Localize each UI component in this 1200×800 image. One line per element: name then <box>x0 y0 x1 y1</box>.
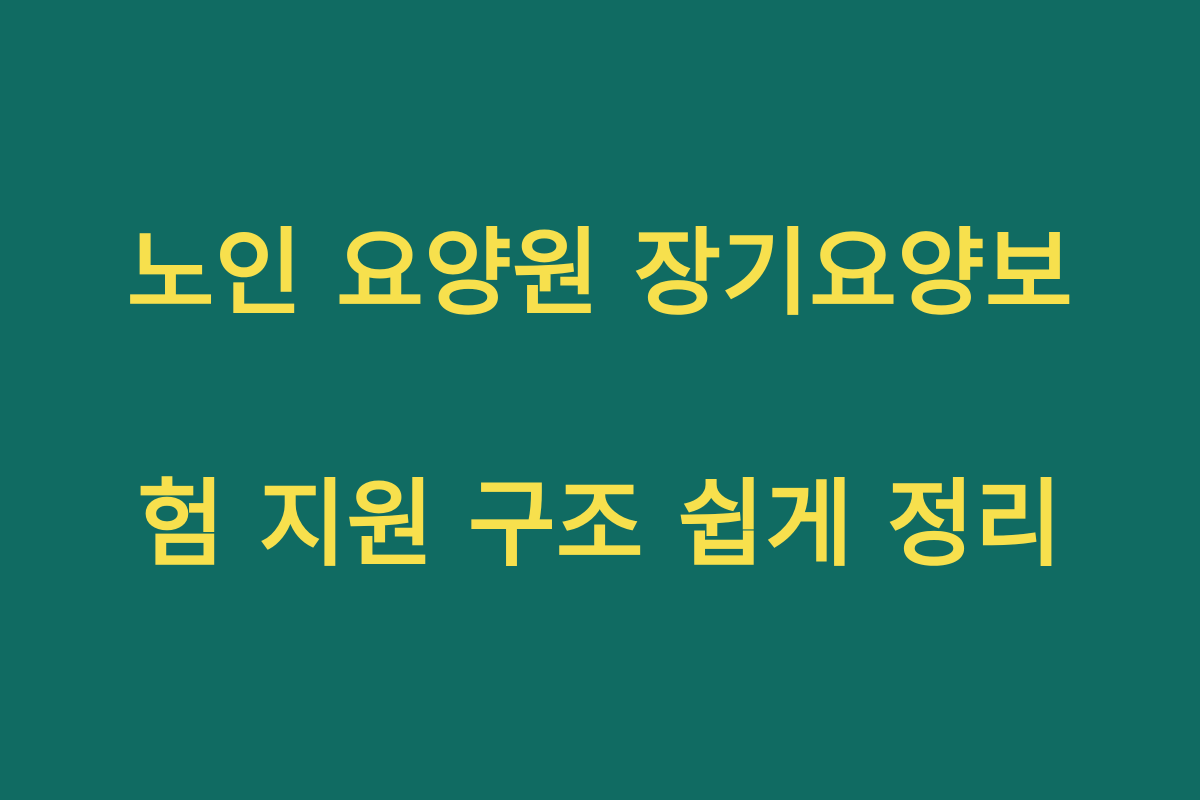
headline-line-1: 노인 요양원 장기요양보 <box>75 212 1125 337</box>
headline-line-2: 험 지원 구조 쉽게 정리 <box>75 463 1125 588</box>
thumbnail-card: 노인 요양원 장기요양보 험 지원 구조 쉽게 정리 <box>0 0 1200 800</box>
headline: 노인 요양원 장기요양보 험 지원 구조 쉽게 정리 <box>75 87 1125 714</box>
